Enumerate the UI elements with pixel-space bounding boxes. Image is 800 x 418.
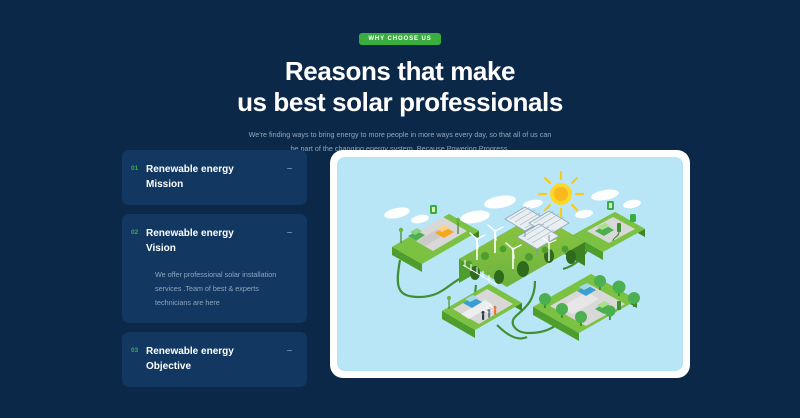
accordion-item-3-number: 03 bbox=[131, 345, 146, 355]
accordion-item-2-number: 02 bbox=[131, 227, 146, 237]
accordion-item-2-body-line-3: technicians are here bbox=[155, 296, 288, 310]
accordion-item-1-title-line-2: Mission bbox=[146, 178, 284, 193]
map-marker-top-right bbox=[607, 201, 614, 210]
sun-icon bbox=[539, 172, 583, 216]
accordion-item-3-title-line-1: Renewable energy bbox=[146, 345, 284, 360]
map-marker-top-left bbox=[430, 205, 437, 214]
accordion-item-2-title-line-1: Renewable energy bbox=[146, 227, 284, 242]
accordion-item-2-body: We offer professional solar installation… bbox=[131, 256, 294, 310]
page-title-line-2: us best solar professionals bbox=[0, 87, 800, 118]
charging-post-bottom-right bbox=[617, 301, 621, 310]
section-header: WHY CHOOSE US Reasons that make us best … bbox=[0, 0, 800, 155]
accordion-item-1[interactable]: 01 Renewable energy Mission bbox=[122, 150, 307, 205]
minus-icon[interactable] bbox=[284, 163, 294, 177]
page-title-line-1: Reasons that make bbox=[0, 56, 800, 87]
accordion-item-2-title: Renewable energy Vision bbox=[146, 227, 284, 256]
accordion-item-2-title-line-2: Vision bbox=[146, 242, 284, 257]
accordion-item-3-title: Renewable energy Objective bbox=[146, 345, 284, 374]
map-marker-top-right-2 bbox=[630, 214, 636, 222]
page-title: Reasons that make us best solar professi… bbox=[0, 56, 800, 117]
accordion-item-2[interactable]: 02 Renewable energy Vision We offer prof… bbox=[122, 214, 307, 323]
minus-icon[interactable] bbox=[284, 227, 294, 241]
accordion-item-1-title-line-1: Renewable energy bbox=[146, 163, 284, 178]
accordion-item-2-body-line-1: We offer professional solar installation bbox=[155, 268, 288, 282]
accordion-item-2-body-line-2: services .Team of best & experts bbox=[155, 282, 288, 296]
accordion-item-1-title: Renewable energy Mission bbox=[146, 163, 284, 192]
section-badge: WHY CHOOSE US bbox=[359, 33, 440, 45]
minus-icon[interactable] bbox=[284, 345, 294, 359]
minus-icon-bar bbox=[287, 168, 292, 169]
accordion: 01 Renewable energy Mission 02 Renewable… bbox=[122, 150, 307, 387]
page-subtitle-line-1: We're finding ways to bring energy to mo… bbox=[234, 128, 566, 141]
illustration-frame bbox=[330, 150, 690, 378]
minus-icon-bar bbox=[287, 232, 292, 233]
isometric-energy-grid-illustration bbox=[337, 157, 683, 371]
illustration-panel bbox=[337, 157, 683, 371]
accordion-item-1-number: 01 bbox=[131, 163, 146, 173]
accordion-item-3[interactable]: 03 Renewable energy Objective bbox=[122, 332, 307, 387]
accordion-item-3-title-line-2: Objective bbox=[146, 360, 284, 375]
accordion-item-2-header[interactable]: 02 Renewable energy Vision bbox=[131, 227, 294, 256]
minus-icon-bar bbox=[287, 350, 292, 351]
content-area: 01 Renewable energy Mission 02 Renewable… bbox=[0, 150, 800, 387]
accordion-item-1-header[interactable]: 01 Renewable energy Mission bbox=[131, 163, 294, 192]
accordion-item-3-header[interactable]: 03 Renewable energy Objective bbox=[131, 345, 294, 374]
